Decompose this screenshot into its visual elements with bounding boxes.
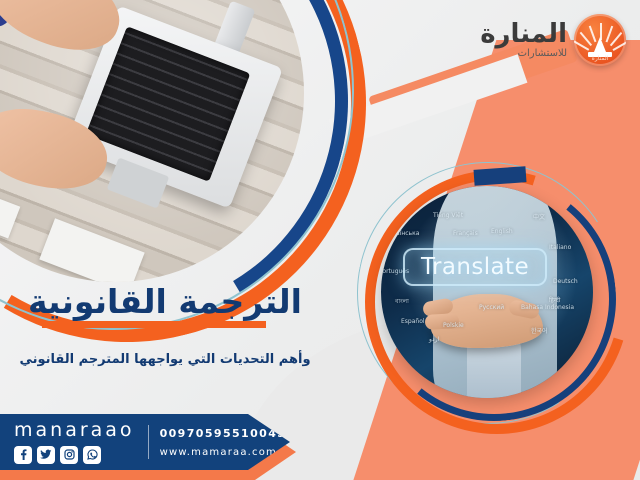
headline-block: الترجمة القانونية	[0, 282, 330, 326]
footer-brand: manaraao	[14, 421, 135, 440]
footer-brand-block: manaraao	[0, 421, 135, 464]
social-links	[14, 446, 135, 464]
lighthouse-icon: المنارة	[574, 14, 626, 66]
instagram-glyph	[64, 449, 75, 460]
whatsapp-icon[interactable]	[83, 446, 101, 464]
footer-contact-block: 00970595510045 www.mamaraa.com	[160, 427, 287, 458]
poster-canvas: Tiếng Việt українська Français English 中…	[0, 0, 640, 480]
page-title: الترجمة القانونية	[22, 282, 308, 326]
page-title-text: الترجمة القانونية	[28, 282, 302, 321]
logo-mark-label: المنارة	[592, 55, 609, 62]
headline-underline	[42, 321, 266, 328]
footer-phone[interactable]: 00970595510045	[160, 427, 287, 440]
whatsapp-glyph	[87, 449, 98, 460]
brand-logo[interactable]: المنارة للاستشارات المنارة	[480, 14, 626, 66]
twitter-glyph	[40, 449, 52, 460]
footer-bar: manaraao	[0, 414, 290, 470]
logo-name: المنارة	[480, 21, 567, 47]
facebook-glyph	[19, 449, 28, 460]
footer-website[interactable]: www.mamaraa.com	[160, 447, 287, 458]
footer-divider	[148, 425, 149, 459]
logo-text-block: المنارة للاستشارات	[480, 21, 567, 59]
facebook-icon[interactable]	[14, 446, 32, 464]
page-subtitle: وأهم التحديات التي يواجهها المترجم القان…	[0, 352, 330, 367]
twitter-icon[interactable]	[37, 446, 55, 464]
logo-tagline: للاستشارات	[480, 49, 567, 59]
instagram-icon[interactable]	[60, 446, 78, 464]
